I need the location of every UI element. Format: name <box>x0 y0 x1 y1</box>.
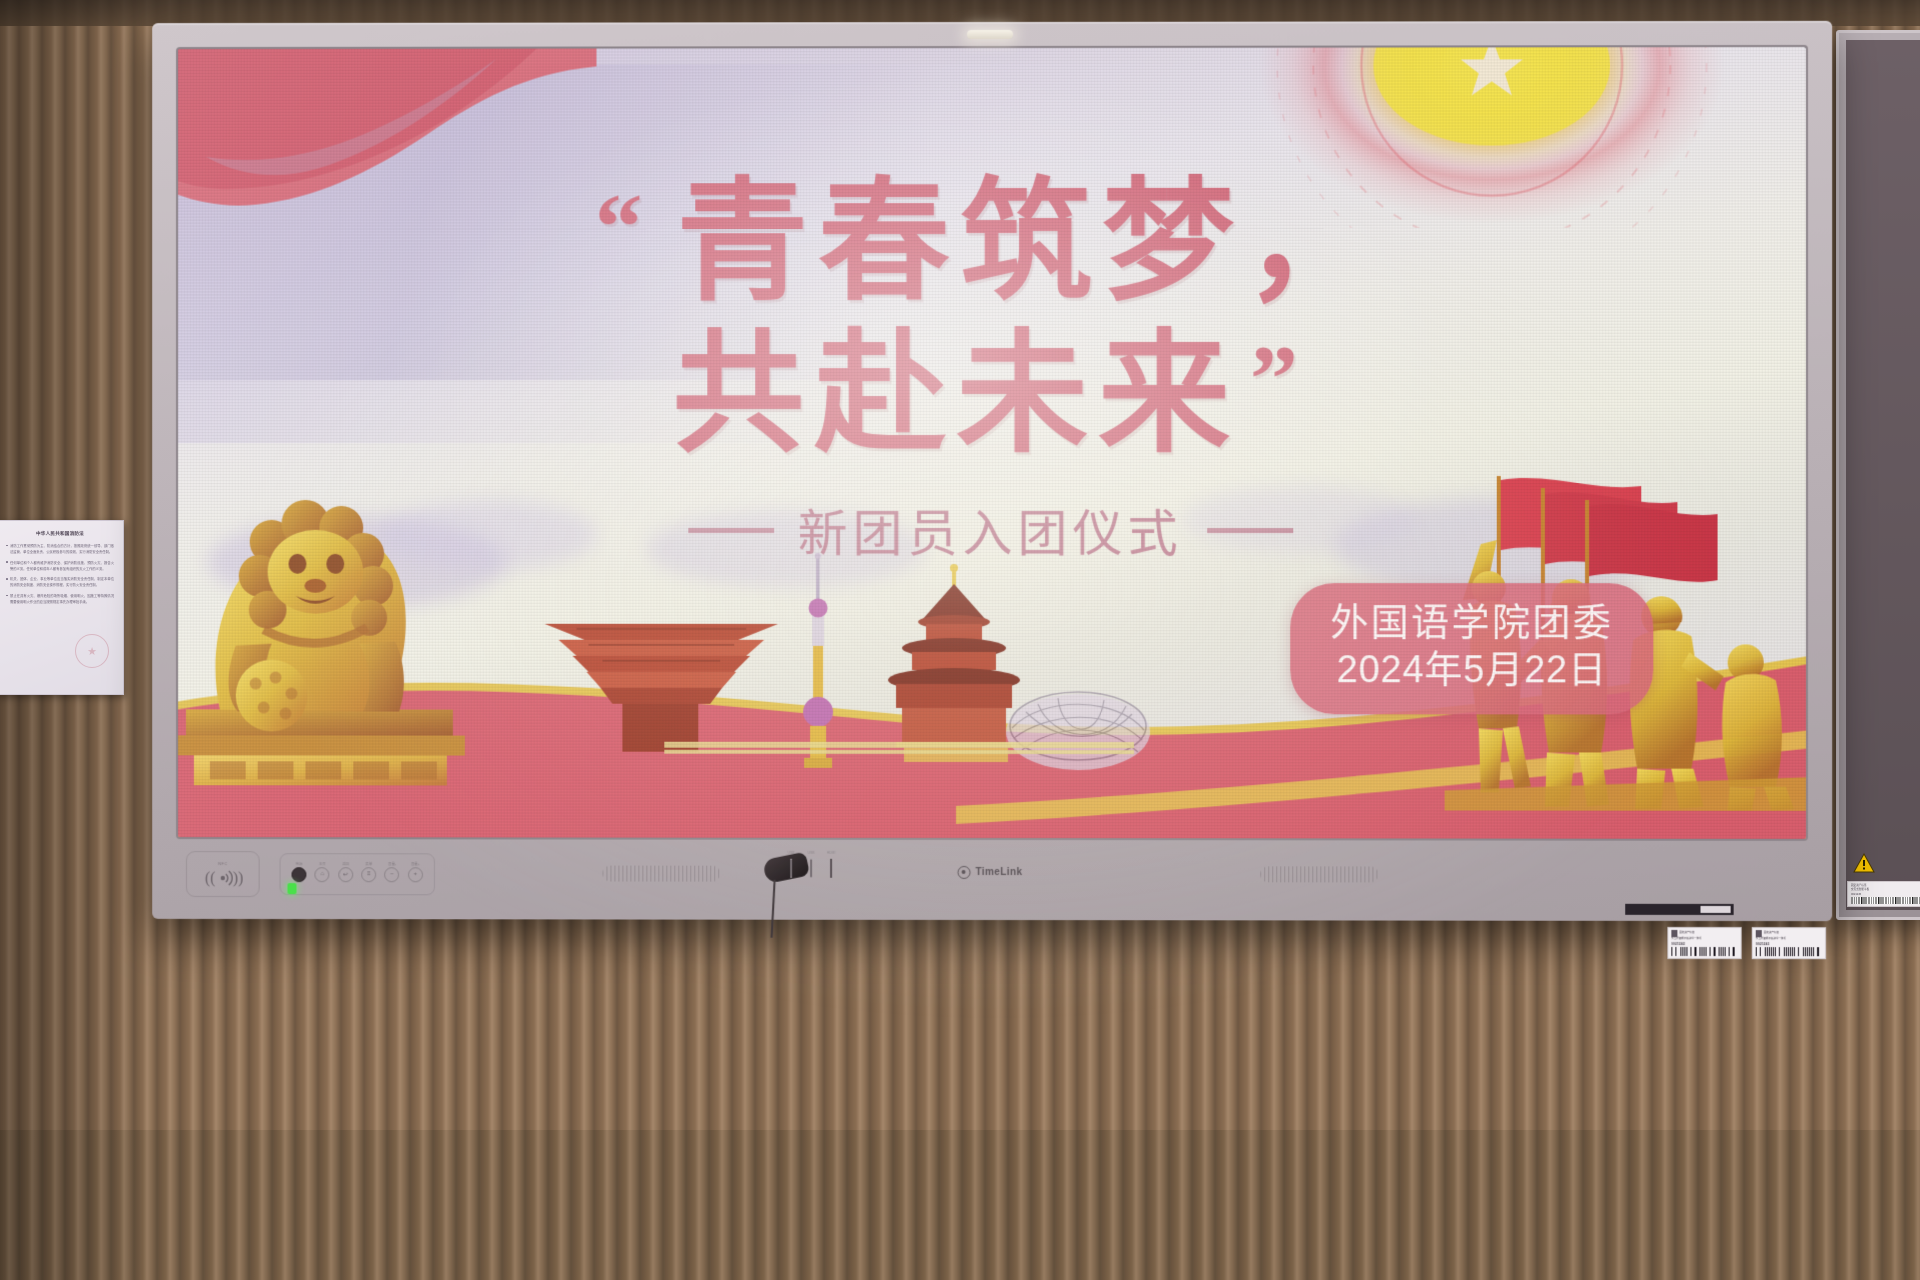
asset-label-head: 固定资产标签 <box>1671 930 1737 937</box>
volume-up-glyph: + <box>414 871 418 877</box>
secondary-panel-screen <box>1846 40 1920 910</box>
usb-b-connector-icon <box>810 859 812 878</box>
balustrade-graphic <box>664 742 1134 754</box>
wall-lower-slats <box>0 1130 1920 1280</box>
subtitle-dash-left <box>688 527 774 532</box>
nfc-label: NFC <box>218 861 227 866</box>
speaker-grille-left <box>602 866 720 882</box>
temple-of-heaven-landmark <box>888 564 1020 762</box>
power-indicator-led <box>288 883 297 894</box>
nfc-reader-pad[interactable]: NFC (( )) <box>186 851 260 897</box>
title-line-1-row: “ 青春筑梦， <box>178 175 1806 308</box>
birds-nest-stadium-landmark <box>1006 692 1150 770</box>
asset-label-org: 固定资产标签 <box>1851 884 1920 887</box>
asset-label-logo-icon <box>1671 930 1677 937</box>
interactive-flat-panel-display[interactable]: “ 青春筑梦， 共赴未来 ” 新团员入团仪式 外国语学院团委 <box>152 21 1832 921</box>
display-port-cluster[interactable]: USB USB HDMI <box>790 860 832 878</box>
nfc-icon: (( )) <box>203 867 243 887</box>
usb-port-a[interactable]: USB <box>790 860 792 878</box>
slide-title-line-1: 青春筑梦， <box>677 176 1387 309</box>
asset-label-id: 0021245 <box>1851 893 1920 896</box>
volume-down-glyph: − <box>390 871 394 877</box>
back-button[interactable]: 返回 ↩ <box>338 867 353 882</box>
dongle-cable <box>771 880 776 938</box>
secondary-wall-panel: 固定资产标签 交互式智能平板 0021245 <box>1836 30 1920 920</box>
landmark-skyline-graphic <box>427 536 1156 796</box>
power-button[interactable]: 电源 <box>292 867 307 882</box>
svg-text:)): )) <box>233 870 243 887</box>
oriental-pearl-tower-landmark <box>803 553 833 768</box>
asset-label-desc: 交互式智能平板 <box>1851 888 1920 891</box>
official-seal-icon <box>75 634 109 668</box>
usb-a-connector-icon <box>790 859 792 878</box>
display-light-sensor <box>967 30 1013 39</box>
brand-logo: TimeLink <box>958 866 1023 879</box>
asset-label-org: 固定资产标签 <box>1764 932 1779 935</box>
room-background: 中华人民共和国消防法 消防工作贯彻预防为主、防消结合的方针，按照政府统一领导、部… <box>0 0 1920 1280</box>
timelink-target-icon <box>958 866 971 879</box>
volume-up-button[interactable]: 音量+ + <box>408 867 423 882</box>
wall-notice-paragraph: 机关、团体、企业、事业等单位应当落实消防安全责任制，制定本单位的消防安全制度、消… <box>6 576 114 588</box>
usb-port-b-label: USB <box>808 851 815 855</box>
organization-date-badge: 外国语学院团委 2024年5月22日 <box>1290 583 1653 714</box>
menu-glyph: ≡ <box>367 871 371 877</box>
hdmi-port-label: HDMI <box>827 851 836 855</box>
asset-label-logo-icon <box>1756 930 1762 937</box>
usb-port-b[interactable]: USB <box>810 860 812 878</box>
china-pavilion-landmark <box>545 624 779 752</box>
slide-title-block: “ 青春筑梦， 共赴未来 ” 新团员入团仪式 <box>178 175 1806 566</box>
close-quote-mark: ” <box>1250 336 1308 422</box>
badge-date: 2024年5月22日 <box>1330 647 1613 694</box>
display-bezel-inner: “ 青春筑梦， 共赴未来 ” 新团员入团仪式 外国语学院团委 <box>178 47 1806 839</box>
volume-up-label: 音量+ <box>411 861 420 866</box>
wall-notice-paragraph: 禁止在具有火灾、爆炸危险的场所吸烟、使用明火，因施工等特殊情况需要使用明火作业的… <box>6 593 114 605</box>
wall-notice-paragraph: 消防工作贯彻预防为主、防消结合的方针，按照政府统一领导、部门依法监管、单位全面负… <box>6 543 114 555</box>
usb-port-a-label: USB <box>788 851 795 855</box>
home-button[interactable]: 主页 ⌂ <box>315 867 330 882</box>
display-control-keypad[interactable]: 电源 主页 ⌂ 返回 ↩ 菜单 ≡ 音量- − <box>280 853 435 895</box>
barcode-graphic <box>1756 947 1822 956</box>
asset-label-org: 固定资产标签 <box>1679 932 1694 935</box>
back-button-label: 返回 <box>342 861 349 866</box>
label-strip-chip <box>1700 906 1730 913</box>
presentation-screen[interactable]: “ 青春筑梦， 共赴未来 ” 新团员入团仪式 外国语学院团委 <box>178 47 1806 839</box>
menu-button-label: 菜单 <box>365 861 372 866</box>
home-button-label: 主页 <box>319 861 326 866</box>
asset-label-desc: 交互式智能平板教学一体机 <box>1671 938 1737 941</box>
menu-button[interactable]: 菜单 ≡ <box>361 867 376 882</box>
speaker-grille-right <box>1260 866 1378 882</box>
hdmi-port[interactable]: HDMI <box>830 860 832 878</box>
hdmi-connector-icon <box>830 859 832 878</box>
display-bottom-bezel: NFC (( )) 电源 主页 ⌂ 返回 <box>152 837 1832 921</box>
back-glyph: ↩ <box>343 871 348 878</box>
barcode-graphic <box>1851 897 1920 904</box>
open-quote-mark: “ <box>595 184 653 270</box>
subtitle-dash-right <box>1207 528 1293 533</box>
asset-label-id: 0021243 <box>1756 942 1822 946</box>
volume-down-button[interactable]: 音量- − <box>385 867 400 882</box>
home-glyph: ⌂ <box>321 871 325 877</box>
volume-down-label: 音量- <box>388 861 396 866</box>
power-button-label: 电源 <box>296 861 303 866</box>
slide-subtitle-row: 新团员入团仪式 <box>178 494 1806 566</box>
asset-label: 固定资产标签 交互式智能平板教学一体机 0021242 <box>1667 927 1741 959</box>
wall-notice-title: 中华人民共和国消防法 <box>6 531 114 537</box>
asset-label-id: 0021242 <box>1671 942 1737 946</box>
asset-label-desc: 交互式智能平板教学一体机 <box>1756 938 1822 941</box>
warning-triangle-icon <box>1853 853 1875 873</box>
wall-notice-sheet: 中华人民共和国消防法 消防工作贯彻预防为主、防消结合的方针，按照政府统一领导、部… <box>0 520 124 695</box>
asset-label-group: 固定资产标签 交互式智能平板教学一体机 0021242 固定资产标签 交互式智能… <box>1667 927 1826 959</box>
wall-notice-paragraph: 任何单位和个人都有维护消防安全、保护消防设施、预防火灾、报告火警的义务。任何单位… <box>6 560 114 572</box>
secondary-panel-asset-label: 固定资产标签 交互式智能平板 0021245 <box>1847 881 1920 907</box>
slide-title-line-2: 共赴未来 <box>673 328 1240 460</box>
slide-subtitle: 新团员入团仪式 <box>798 494 1183 566</box>
brand-name: TimeLink <box>976 867 1023 878</box>
svg-text:((: (( <box>205 870 216 887</box>
display-label-strip <box>1625 904 1733 915</box>
asset-label: 固定资产标签 交互式智能平板教学一体机 0021243 <box>1752 927 1826 959</box>
title-line-2-row: 共赴未来 ” <box>178 328 1806 460</box>
barcode-graphic <box>1671 947 1737 956</box>
badge-organization: 外国语学院团委 <box>1330 600 1613 647</box>
